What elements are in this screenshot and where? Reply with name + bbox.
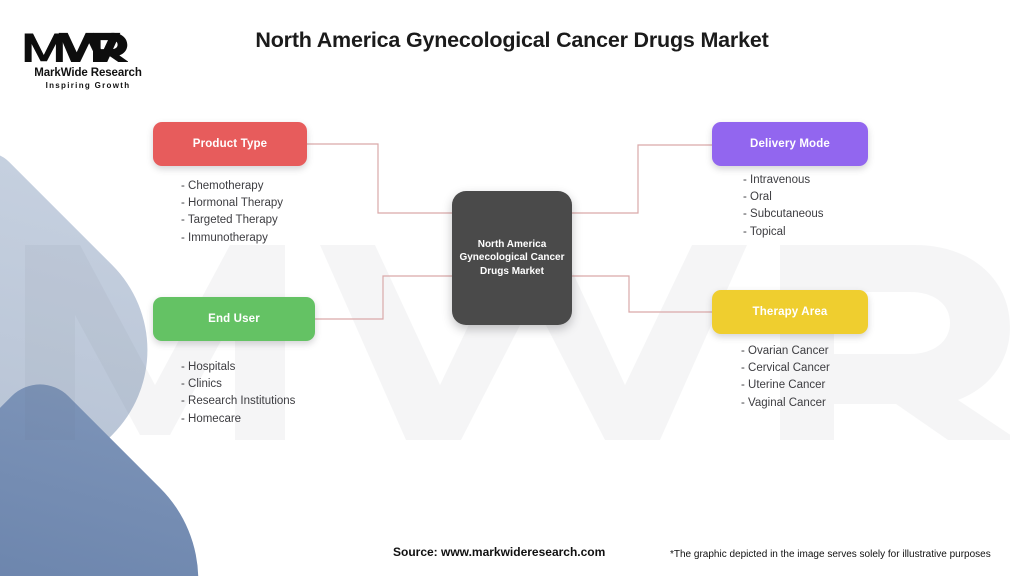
- branch-label-end-user: End User: [208, 313, 260, 325]
- branch-box-delivery-mode[interactable]: Delivery Mode: [712, 122, 868, 166]
- connector-product-type: [307, 144, 452, 213]
- footer-disclaimer: *The graphic depicted in the image serve…: [670, 549, 991, 560]
- list-item: - Uterine Cancer: [741, 377, 830, 394]
- list-therapy-area: - Ovarian Cancer - Cervical Cancer - Ute…: [741, 343, 830, 412]
- branch-box-product-type[interactable]: Product Type: [153, 122, 307, 166]
- center-box-text: North America Gynecological Cancer Drugs…: [453, 238, 570, 279]
- branch-label-delivery-mode: Delivery Mode: [750, 138, 830, 150]
- branch-label-product-type: Product Type: [193, 138, 267, 150]
- list-item: - Cervical Cancer: [741, 360, 830, 377]
- branch-label-therapy-area: Therapy Area: [753, 306, 828, 318]
- footer-source: Source: www.markwideresearch.com: [393, 545, 605, 559]
- list-item: - Vaginal Cancer: [741, 395, 830, 412]
- center-line-3: Drugs Market: [459, 265, 564, 279]
- list-item: - Chemotherapy: [181, 178, 283, 195]
- center-line-2: Gynecological Cancer: [459, 251, 564, 265]
- connector-delivery-mode: [572, 145, 712, 213]
- list-item: - Ovarian Cancer: [741, 343, 830, 360]
- list-item: - Hormonal Therapy: [181, 195, 283, 212]
- list-item: - Subcutaneous: [743, 206, 824, 223]
- center-line-1: North America: [459, 238, 564, 252]
- list-item: - Hospitals: [181, 359, 295, 376]
- list-product-type: - Chemotherapy - Hormonal Therapy - Targ…: [181, 178, 283, 247]
- list-item: - Immunotherapy: [181, 230, 283, 247]
- list-delivery-mode: - Intravenous - Oral - Subcutaneous - To…: [743, 172, 824, 241]
- connector-end-user: [315, 276, 452, 319]
- connector-therapy-area: [572, 276, 712, 312]
- list-item: - Research Institutions: [181, 393, 295, 410]
- list-item: - Targeted Therapy: [181, 212, 283, 229]
- infographic-canvas: MarkWide Research Inspiring Growth North…: [0, 0, 1024, 576]
- list-item: - Homecare: [181, 411, 295, 428]
- branch-box-end-user[interactable]: End User: [153, 297, 315, 341]
- list-item: - Topical: [743, 224, 824, 241]
- center-box[interactable]: North America Gynecological Cancer Drugs…: [452, 191, 572, 325]
- list-item: - Clinics: [181, 376, 295, 393]
- list-item: - Oral: [743, 189, 824, 206]
- branch-box-therapy-area[interactable]: Therapy Area: [712, 290, 868, 334]
- list-end-user: - Hospitals - Clinics - Research Institu…: [181, 359, 295, 428]
- list-item: - Intravenous: [743, 172, 824, 189]
